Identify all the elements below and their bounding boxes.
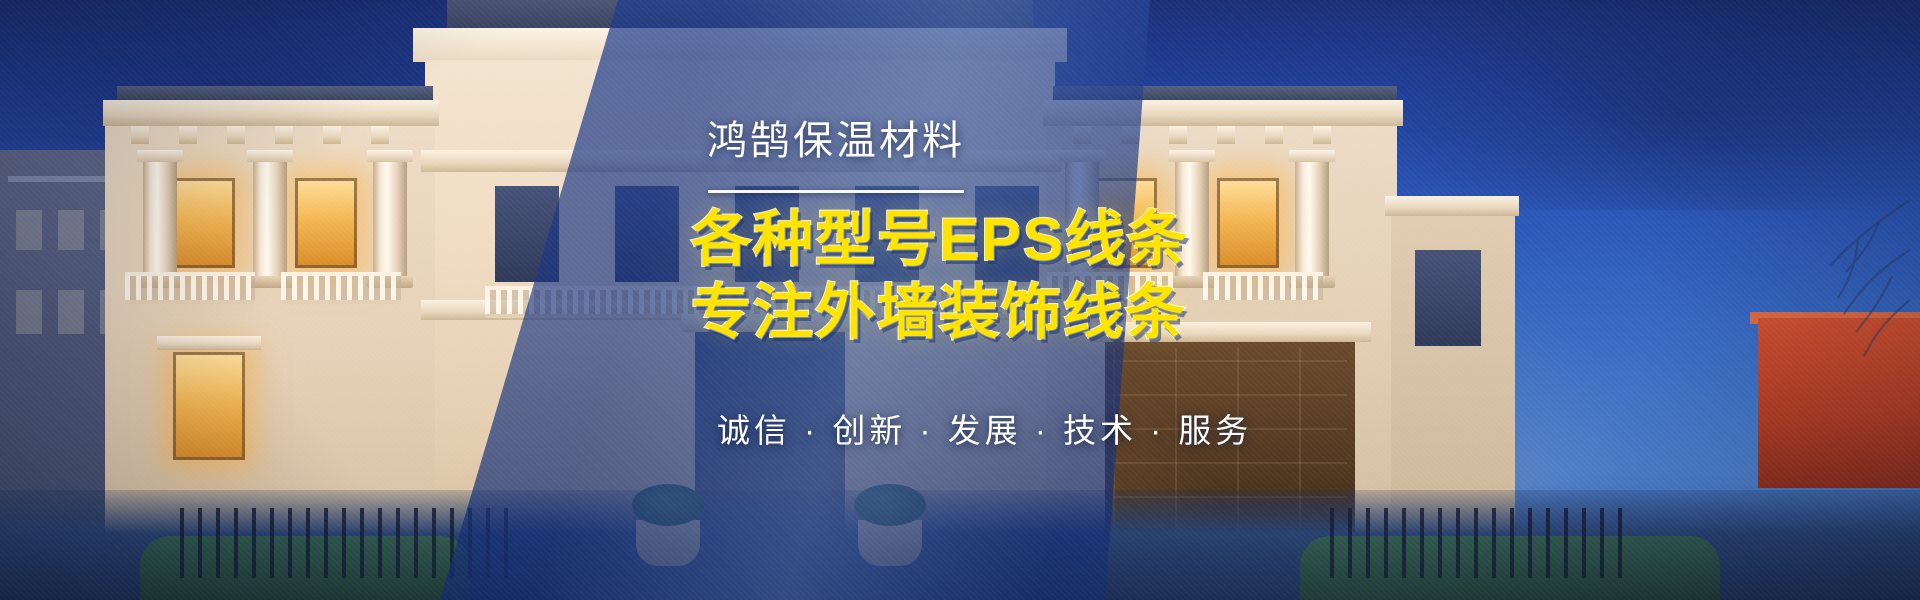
window-frame — [295, 178, 357, 268]
corbel — [227, 126, 245, 144]
bare-branch — [1760, 180, 1910, 380]
column — [373, 156, 407, 282]
corbel — [371, 126, 389, 144]
column-capital — [367, 150, 413, 162]
banner-copy: 鸿鹄保温材料 各种型号EPS线条 专注外墙装饰线条 诚信 · 创新 · 发展 ·… — [707, 0, 1407, 600]
column-capital — [247, 150, 293, 162]
column-capital — [137, 150, 183, 162]
headline-line-2: 专注外墙装饰线条 — [691, 283, 1187, 343]
corbel — [179, 126, 197, 144]
column — [143, 156, 177, 282]
promotional-banner: 鸿鹄保温材料 各种型号EPS线条 专注外墙装饰线条 诚信 · 创新 · 发展 ·… — [0, 0, 1920, 600]
cornice-left — [103, 100, 439, 126]
window-dark — [1415, 250, 1481, 346]
column — [253, 156, 287, 282]
tagline: 诚信 · 创新 · 发展 · 技术 · 服务 — [717, 404, 1252, 452]
corbel — [275, 126, 293, 144]
window-frame — [173, 352, 245, 460]
brand-name: 鸿鹄保温材料 — [707, 108, 965, 166]
window-lintel — [157, 336, 261, 350]
corbel — [323, 126, 341, 144]
divider-rule — [708, 190, 964, 193]
corbel — [131, 126, 149, 144]
balustrade — [125, 272, 255, 304]
headline-line-1: 各种型号EPS线条 — [691, 210, 1189, 270]
window-frame — [173, 178, 235, 268]
